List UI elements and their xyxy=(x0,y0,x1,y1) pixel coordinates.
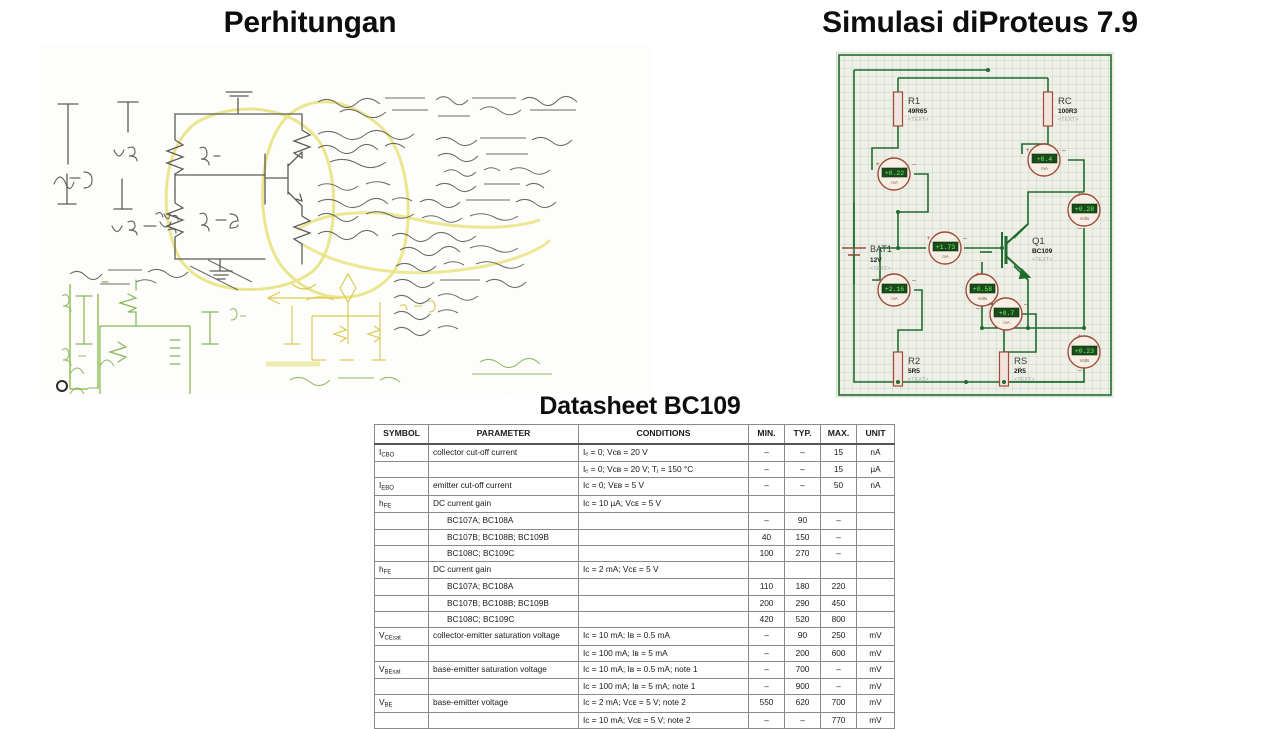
svg-text:–: – xyxy=(976,305,980,312)
cell-conditions xyxy=(579,513,749,529)
cell-parameter: emitter cut-off current xyxy=(429,478,579,496)
cell-symbol xyxy=(375,713,429,729)
cell-min: – xyxy=(749,679,785,695)
label-bat1-ref: BAT1 xyxy=(870,244,892,254)
label-q1-tag: <TEXT> xyxy=(1032,257,1052,263)
cell-parameter xyxy=(429,679,579,695)
table-row: VCEsatcollector-emitter saturation volta… xyxy=(375,628,895,646)
cell-parameter: BC107A; BC108A xyxy=(429,513,579,529)
cell-conditions: Iᴄ = 100 mA; Iʙ = 5 mA xyxy=(579,645,749,661)
cell-conditions xyxy=(579,529,749,545)
table-row: BC107B; BC108B; BC109B40150– xyxy=(375,529,895,545)
page-title-simulasi: Simulasi diProteus 7.9 xyxy=(700,6,1260,40)
cell-parameter: DC current gain xyxy=(429,561,579,579)
label-rs-value: 2R5 xyxy=(1014,368,1026,375)
cell-min: – xyxy=(749,444,785,462)
table-row: hFEDC current gainIᴄ = 2 mA; Vᴄᴇ = 5 V xyxy=(375,561,895,579)
cell-max: 220 xyxy=(821,579,857,595)
handwritten-calculation-image xyxy=(40,44,650,394)
cell-unit: mV xyxy=(857,695,895,713)
cell-typ: – xyxy=(785,713,821,729)
svg-text:Volts: Volts xyxy=(978,296,988,301)
cell-min: – xyxy=(749,628,785,646)
page-title-datasheet: Datasheet BC109 xyxy=(380,392,900,421)
cell-min: 420 xyxy=(749,611,785,627)
label-r1-tag: <TEXT> xyxy=(908,117,928,123)
cell-conditions: Iᴄ = 10 mA; Vᴄᴇ = 5 V; note 2 xyxy=(579,713,749,729)
table-row: BC108C; BC109C420520800 xyxy=(375,611,895,627)
cell-parameter xyxy=(429,645,579,661)
table-header-row: SYMBOL PARAMETER CONDITIONS MIN. TYP. MA… xyxy=(375,425,895,444)
cell-conditions: Iᴄ = 10 mA; Iʙ = 0.5 mA xyxy=(579,628,749,646)
cell-symbol xyxy=(375,529,429,545)
svg-text:mA: mA xyxy=(891,296,898,301)
cell-min: 110 xyxy=(749,579,785,595)
table-header: SYMBOL PARAMETER CONDITIONS MIN. TYP. MA… xyxy=(375,425,895,444)
meter-vrs: +0.23 Volts + – xyxy=(1068,334,1100,374)
cell-parameter: BC108C; BC109C xyxy=(429,545,579,561)
svg-text:–: – xyxy=(1078,225,1082,232)
svg-text:mA: mA xyxy=(942,254,949,259)
cell-max: 15 xyxy=(821,444,857,462)
cell-symbol xyxy=(375,595,429,611)
cell-unit: mV xyxy=(857,661,895,679)
svg-text:mA: mA xyxy=(891,180,898,185)
table-row: BC107A; BC108A–90– xyxy=(375,513,895,529)
cell-unit: nA xyxy=(857,444,895,462)
cell-conditions: Iᴄ = 100 mA; Iʙ = 5 mA; note 1 xyxy=(579,679,749,695)
cell-max: 800 xyxy=(821,611,857,627)
cell-typ: – xyxy=(785,462,821,478)
cell-min: – xyxy=(749,513,785,529)
cell-typ: 150 xyxy=(785,529,821,545)
cell-symbol: hFE xyxy=(375,561,429,579)
cell-max: – xyxy=(821,545,857,561)
table-row: BC107B; BC108B; BC109B200290450 xyxy=(375,595,895,611)
cell-typ: – xyxy=(785,444,821,462)
label-q1-value: BC109 xyxy=(1032,248,1053,255)
label-r2-ref: R2 xyxy=(908,356,920,367)
cell-symbol: VBEsat xyxy=(375,661,429,679)
table-body: ICBOcollector cut-off currentIₑ = 0; Vᴄʙ… xyxy=(375,444,895,729)
svg-text:+: + xyxy=(876,278,880,284)
transistor-q1 xyxy=(1002,224,1029,278)
table-row: ICBOcollector cut-off currentIₑ = 0; Vᴄʙ… xyxy=(375,444,895,462)
proteus-simulation-image: BAT1 12V <TEXT> R1 49R65 <TEXT> RC 100R3… xyxy=(836,52,1114,398)
col-typ: TYP. xyxy=(785,425,821,444)
cell-min: 550 xyxy=(749,695,785,713)
cell-max: – xyxy=(821,513,857,529)
cell-typ xyxy=(785,561,821,579)
cell-typ: 180 xyxy=(785,579,821,595)
svg-text:+0.23: +0.23 xyxy=(1075,348,1094,355)
col-min: MIN. xyxy=(749,425,785,444)
cell-unit: mV xyxy=(857,713,895,729)
cell-conditions xyxy=(579,545,749,561)
cell-max: 50 xyxy=(821,478,857,496)
cell-typ: 270 xyxy=(785,545,821,561)
label-bat1-value: 12V xyxy=(870,257,882,264)
table-row: VBEsatbase-emitter saturation voltageIᴄ … xyxy=(375,661,895,679)
cell-typ: 900 xyxy=(785,679,821,695)
col-conditions: CONDITIONS xyxy=(579,425,749,444)
cell-min: – xyxy=(749,462,785,478)
cell-unit xyxy=(857,513,895,529)
resistor-r1 xyxy=(894,92,903,126)
svg-text:+2.16: +2.16 xyxy=(885,286,904,293)
cell-max xyxy=(821,561,857,579)
label-rc-tag: <TEXT> xyxy=(1058,117,1078,123)
label-r1-value: 49R65 xyxy=(908,108,928,115)
cell-max: – xyxy=(821,529,857,545)
cell-min: – xyxy=(749,713,785,729)
col-parameter: PARAMETER xyxy=(429,425,579,444)
cell-unit: nA xyxy=(857,478,895,496)
meter-r2-current: +2.16 mA + – xyxy=(876,274,916,306)
meter-base-current: +1.73 mA + – xyxy=(927,232,967,264)
cell-symbol xyxy=(375,513,429,529)
svg-text:+0.28: +0.28 xyxy=(1075,206,1094,213)
meter-rc-current: +0.4 mA + – xyxy=(1026,144,1066,176)
cell-symbol xyxy=(375,462,429,478)
cell-typ: 700 xyxy=(785,661,821,679)
cell-symbol: IEBO xyxy=(375,478,429,496)
cell-typ: – xyxy=(785,478,821,496)
cell-unit xyxy=(857,579,895,595)
col-max: MAX. xyxy=(821,425,857,444)
label-rs-ref: RS xyxy=(1014,356,1027,367)
cell-typ: 90 xyxy=(785,628,821,646)
svg-text:Volts: Volts xyxy=(1080,216,1090,221)
meter-vbe: +0.28 Volts + – xyxy=(1068,192,1100,232)
cell-conditions: Iᴄ = 2 mA; Vᴄᴇ = 5 V; note 2 xyxy=(579,695,749,713)
cell-unit xyxy=(857,495,895,513)
cell-typ xyxy=(785,495,821,513)
cell-min: 100 xyxy=(749,545,785,561)
cell-conditions xyxy=(579,579,749,595)
cell-max xyxy=(821,495,857,513)
cell-parameter xyxy=(429,462,579,478)
table-row: hFEDC current gainIᴄ = 10 µA; Vᴄᴇ = 5 V xyxy=(375,495,895,513)
svg-text:mA: mA xyxy=(1003,320,1010,325)
svg-text:mA: mA xyxy=(1041,166,1048,171)
cell-typ: 200 xyxy=(785,645,821,661)
svg-text:+: + xyxy=(976,272,980,278)
table-row: BC107A; BC108A110180220 xyxy=(375,579,895,595)
cell-min: – xyxy=(749,478,785,496)
svg-text:+0.4: +0.4 xyxy=(1037,156,1053,163)
cell-symbol: VCEsat xyxy=(375,628,429,646)
cell-unit xyxy=(857,561,895,579)
resistor-rc xyxy=(1044,92,1053,126)
cell-min: 200 xyxy=(749,595,785,611)
meter-emitter: +0.7 mA + – xyxy=(988,298,1028,330)
cell-min: – xyxy=(749,661,785,679)
cell-parameter: collector cut-off current xyxy=(429,444,579,462)
cell-parameter: BC108C; BC109C xyxy=(429,611,579,627)
label-r2-tag: <TEXT> xyxy=(908,377,928,383)
svg-text:+0.58: +0.58 xyxy=(973,286,992,293)
cell-max: 15 xyxy=(821,462,857,478)
table-row: Iₑ = 0; Vᴄʙ = 20 V; Tⱼ = 150 °C––15µA xyxy=(375,462,895,478)
cell-unit xyxy=(857,595,895,611)
svg-text:–: – xyxy=(912,161,916,168)
cell-parameter: BC107B; BC108B; BC109B xyxy=(429,595,579,611)
meter-r1-current: +0.22 mA + – xyxy=(876,158,916,190)
cell-parameter: base-emitter voltage xyxy=(429,695,579,713)
cell-max: – xyxy=(821,661,857,679)
table-row: Iᴄ = 100 mA; Iʙ = 5 mA; note 1–900–mV xyxy=(375,679,895,695)
cell-typ: 290 xyxy=(785,595,821,611)
cell-max: 450 xyxy=(821,595,857,611)
cell-conditions xyxy=(579,595,749,611)
label-bat1-tag: <TEXT> xyxy=(870,266,890,272)
svg-text:+: + xyxy=(1078,334,1082,340)
cell-symbol: VBE xyxy=(375,695,429,713)
svg-text:+: + xyxy=(988,302,992,308)
cell-max: 600 xyxy=(821,645,857,661)
table-row: VBEbase-emitter voltageIᴄ = 2 mA; Vᴄᴇ = … xyxy=(375,695,895,713)
cell-symbol: ICBO xyxy=(375,444,429,462)
cell-symbol xyxy=(375,645,429,661)
page-title-perhitungan: Perhitungan xyxy=(0,6,620,40)
cell-min xyxy=(749,495,785,513)
cell-min: – xyxy=(749,645,785,661)
label-rs-tag: <TEXT> xyxy=(1014,377,1034,383)
cell-conditions: Iᴄ = 10 mA; Iʙ = 0.5 mA; note 1 xyxy=(579,661,749,679)
cell-max: 250 xyxy=(821,628,857,646)
col-symbol: SYMBOL xyxy=(375,425,429,444)
svg-text:+: + xyxy=(1078,192,1082,198)
cell-min xyxy=(749,561,785,579)
datasheet-table: SYMBOL PARAMETER CONDITIONS MIN. TYP. MA… xyxy=(374,424,895,729)
cell-parameter: BC107A; BC108A xyxy=(429,579,579,595)
cell-unit: mV xyxy=(857,628,895,646)
junction-dots xyxy=(896,68,1086,384)
table-row: Iᴄ = 100 mA; Iʙ = 5 mA–200600mV xyxy=(375,645,895,661)
cell-unit: mV xyxy=(857,679,895,695)
cell-typ: 520 xyxy=(785,611,821,627)
cell-min: 40 xyxy=(749,529,785,545)
col-unit: UNIT xyxy=(857,425,895,444)
svg-text:+: + xyxy=(927,236,931,242)
cell-conditions xyxy=(579,611,749,627)
cell-conditions: Iₑ = 0; Vᴄʙ = 20 V xyxy=(579,444,749,462)
cell-unit: mV xyxy=(857,645,895,661)
svg-text:–: – xyxy=(1078,367,1082,374)
cell-max: – xyxy=(821,679,857,695)
cell-symbol xyxy=(375,579,429,595)
svg-text:+: + xyxy=(876,162,880,168)
cell-conditions: Iᴄ = 10 µA; Vᴄᴇ = 5 V xyxy=(579,495,749,513)
svg-text:–: – xyxy=(1062,147,1066,154)
svg-text:+0.7: +0.7 xyxy=(999,310,1015,317)
cell-parameter: collector-emitter saturation voltage xyxy=(429,628,579,646)
cell-conditions: Iₑ = 0; Vᴄʙ = 20 V; Tⱼ = 150 °C xyxy=(579,462,749,478)
label-r1-ref: R1 xyxy=(908,96,920,107)
cell-conditions: Iᴄ = 2 mA; Vᴄᴇ = 5 V xyxy=(579,561,749,579)
cell-unit xyxy=(857,529,895,545)
slide-root: Perhitungan Simulasi diProteus 7.9 Datas… xyxy=(0,0,1280,720)
label-q1-ref: Q1 xyxy=(1032,236,1045,247)
cell-parameter: BC107B; BC108B; BC109B xyxy=(429,529,579,545)
cell-unit xyxy=(857,611,895,627)
cell-typ: 620 xyxy=(785,695,821,713)
cell-max: 700 xyxy=(821,695,857,713)
svg-text:–: – xyxy=(1024,301,1028,308)
table-row: IEBOemitter cut-off currentIᴄ = 0; Vᴇʙ =… xyxy=(375,478,895,496)
label-r2-value: 5R5 xyxy=(908,368,920,375)
svg-text:–: – xyxy=(912,277,916,284)
svg-text:+1.73: +1.73 xyxy=(936,244,955,251)
cell-symbol xyxy=(375,611,429,627)
cell-parameter: DC current gain xyxy=(429,495,579,513)
svg-text:+: + xyxy=(1026,148,1030,154)
cell-conditions: Iᴄ = 0; Vᴇʙ = 5 V xyxy=(579,478,749,496)
cell-typ: 90 xyxy=(785,513,821,529)
cell-parameter xyxy=(429,713,579,729)
cell-symbol xyxy=(375,545,429,561)
label-rc-value: 100R3 xyxy=(1058,108,1078,115)
svg-text:–: – xyxy=(963,235,967,242)
label-rc-ref: RC xyxy=(1058,96,1072,107)
cell-symbol xyxy=(375,679,429,695)
cell-unit xyxy=(857,545,895,561)
cell-parameter: base-emitter saturation voltage xyxy=(429,661,579,679)
svg-text:Volts: Volts xyxy=(1080,358,1090,363)
cell-unit: µA xyxy=(857,462,895,478)
cell-max: 770 xyxy=(821,713,857,729)
cell-symbol: hFE xyxy=(375,495,429,513)
svg-text:+0.22: +0.22 xyxy=(885,170,904,177)
table-row: BC108C; BC109C100270– xyxy=(375,545,895,561)
table-row: Iᴄ = 10 mA; Vᴄᴇ = 5 V; note 2––770mV xyxy=(375,713,895,729)
